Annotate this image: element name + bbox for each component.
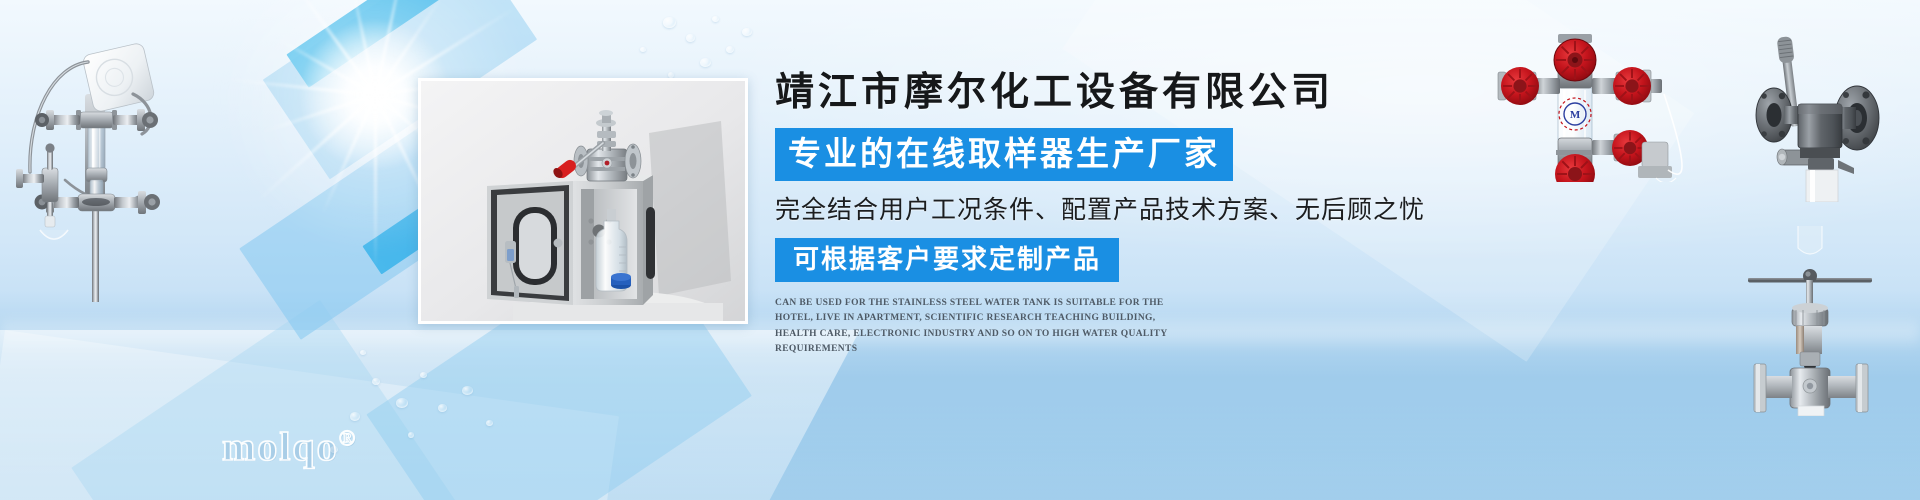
water-droplet-icon <box>726 46 734 53</box>
banner-text-block: 靖江市摩尔化工设备有限公司 专业的在线取样器生产厂家 完全结合用户工况条件、配置… <box>775 72 1415 357</box>
water-droplet-icon <box>712 16 719 22</box>
water-droplet-icon <box>420 372 427 378</box>
water-droplet-icon <box>700 58 711 67</box>
water-droplet-icon <box>396 398 408 408</box>
water-droplet-icon <box>742 28 752 36</box>
water-droplet-icon <box>360 350 366 355</box>
water-droplet-icon <box>663 17 676 28</box>
promotional-banner: M <box>0 0 1920 500</box>
subtitle-text: 完全结合用户工况条件、配置产品技术方案、无后顾之忧 <box>775 195 1415 225</box>
registered-mark-icon: ® <box>339 426 357 451</box>
sampling-station-illustration <box>2 22 172 302</box>
center-product-photo <box>418 78 748 324</box>
watermark-logo: molqo® <box>222 423 357 470</box>
flanged-lever-valve <box>1742 22 1920 202</box>
water-droplet-icon <box>350 412 360 421</box>
water-droplet-icon <box>372 378 380 385</box>
water-droplet-icon <box>686 34 695 42</box>
red-handwheel-valve-manifold: M <box>1482 22 1732 182</box>
water-droplet-icon <box>640 47 646 52</box>
english-description: CAN BE USED FOR THE STAINLESS STEEL WATE… <box>775 296 1175 358</box>
company-title: 靖江市摩尔化工设备有限公司 <box>775 72 1415 115</box>
water-droplet-icon <box>408 432 414 438</box>
water-droplet-icon <box>462 386 473 395</box>
water-droplet-icon <box>486 420 493 426</box>
svg-text:M: M <box>1570 109 1581 121</box>
custom-product-badge: 可根据客户要求定制产品 <box>775 238 1119 282</box>
watermark-text: molqo <box>222 424 339 469</box>
flanged-gate-valve <box>1746 226 1920 416</box>
water-droplet-icon <box>438 404 447 412</box>
headline-badge: 专业的在线取样器生产厂家 <box>775 128 1233 181</box>
